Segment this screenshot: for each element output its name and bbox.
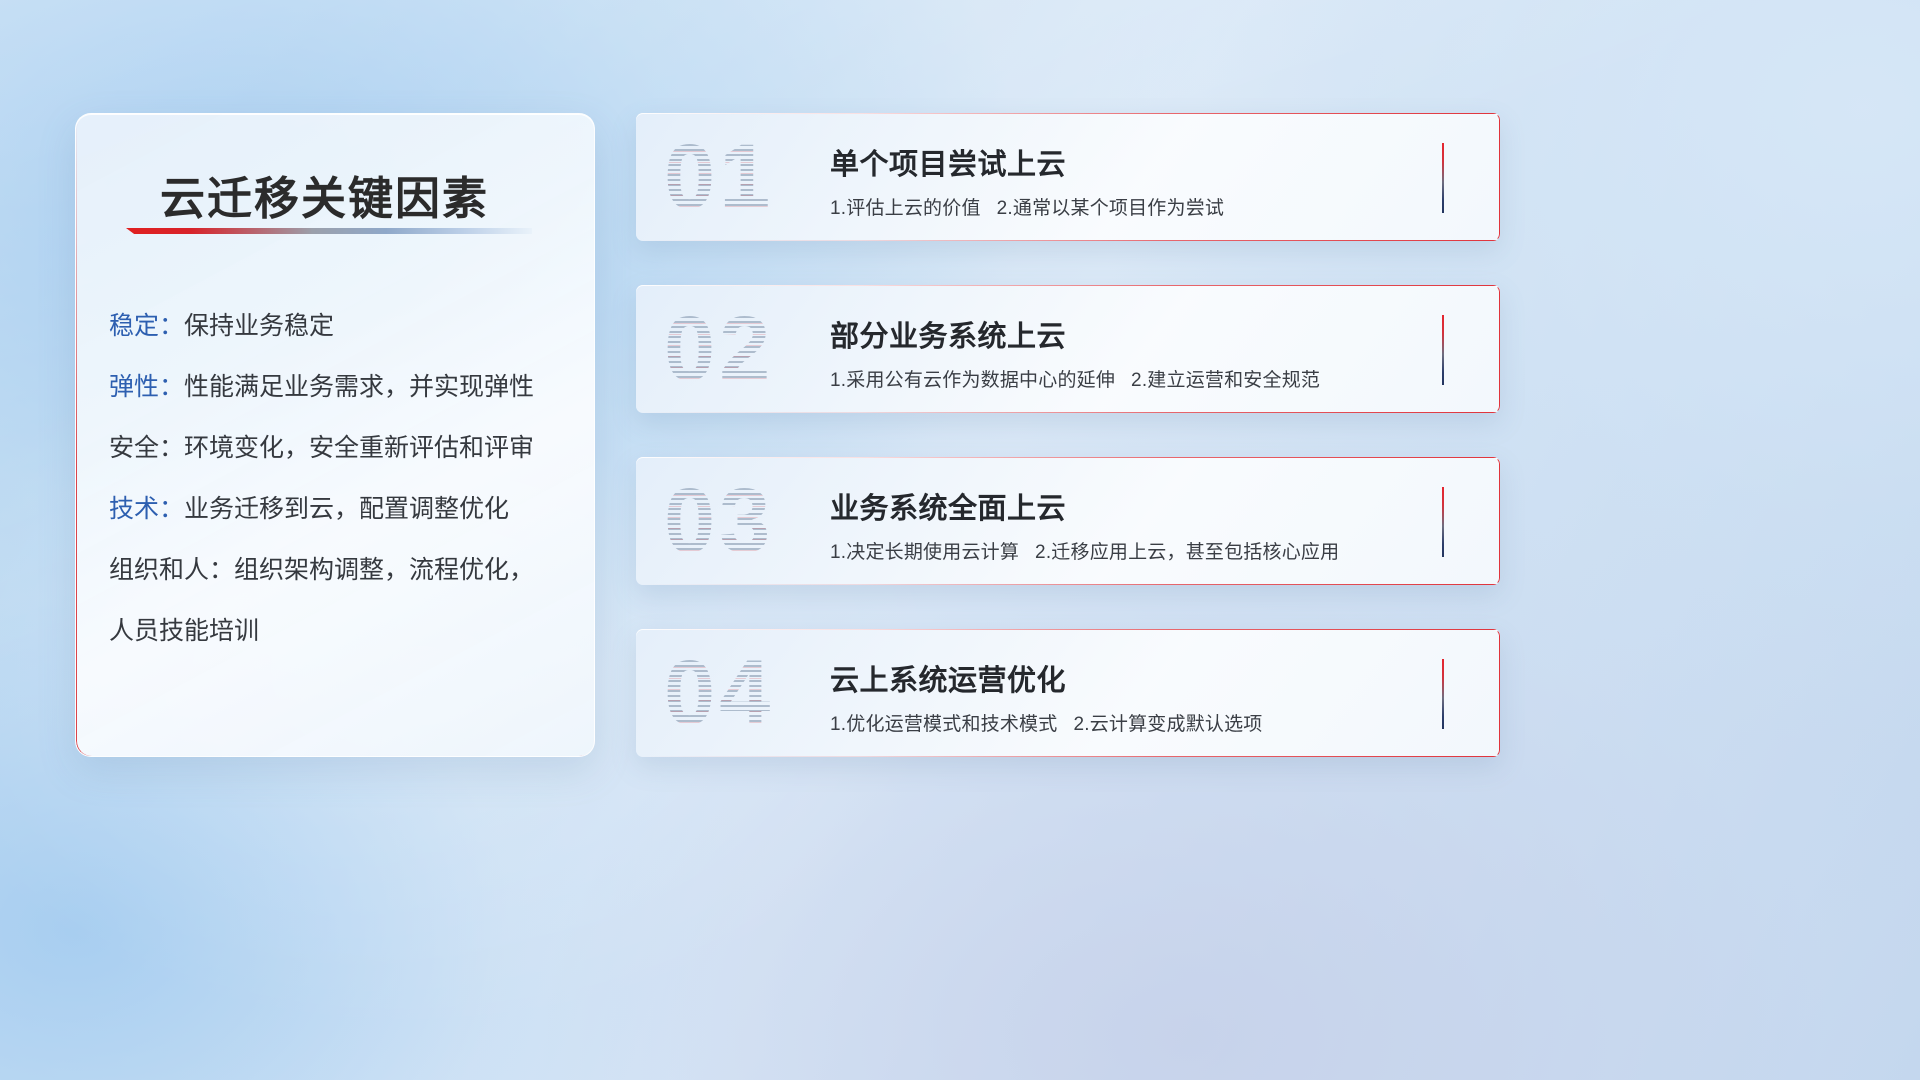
card-point: 1.决定长期使用云计算 [830, 542, 1019, 563]
card-divider [1442, 315, 1444, 385]
card-point: 2.建立运营和安全规范 [1131, 370, 1320, 391]
list-item: 组织和人：组织架构调整，流程优化， [109, 558, 579, 583]
card-point: 2.通常以某个项目作为尝试 [997, 198, 1224, 219]
list-item: 安全：环境变化，安全重新评估和评审 [109, 436, 579, 461]
key-factors-panel: 云迁移关键因素 稳定：保持业务稳定 弹性：性能满足业务需求，并实现弹性 安全：环… [75, 113, 595, 757]
list-item: 弹性：性能满足业务需求，并实现弹性 [109, 375, 579, 400]
card-point: 1.评估上云的价值 [830, 198, 981, 219]
stage-number-overlay: 03 [664, 473, 844, 569]
card-points: 1.优化运营模式和技术模式2.云计算变成默认选项 [830, 709, 1263, 736]
list-item-key: 稳定： [109, 312, 184, 340]
list-item-key: 安全： [109, 434, 184, 462]
stage-number-overlay: 02 [664, 301, 844, 397]
card-points: 1.采用公有云作为数据中心的延伸2.建立运营和安全规范 [830, 365, 1320, 392]
card-divider [1442, 659, 1444, 729]
card-title: 云上系统运营优化 [830, 657, 1066, 699]
stage-card-02[interactable]: 02 02 部分业务系统上云 1.采用公有云作为数据中心的延伸2.建立运营和安全… [636, 285, 1500, 413]
card-points: 1.评估上云的价值2.通常以某个项目作为尝试 [830, 193, 1224, 220]
stage-card-03[interactable]: 03 03 业务系统全面上云 1.决定长期使用云计算2.迁移应用上云，甚至包括核… [636, 457, 1500, 585]
card-point: 2.迁移应用上云，甚至包括核心应用 [1035, 542, 1339, 563]
card-title: 业务系统全面上云 [830, 485, 1066, 527]
list-item-key: 组织和人： [109, 556, 234, 584]
stage-card-04[interactable]: 04 04 云上系统运营优化 1.优化运营模式和技术模式2.云计算变成默认选项 [636, 629, 1500, 757]
list-item: 技术：业务迁移到云，配置调整优化 [109, 497, 579, 522]
page-title: 云迁移关键因素 [160, 162, 489, 227]
list-item-key: 技术： [109, 495, 184, 523]
card-point: 1.优化运营模式和技术模式 [830, 714, 1057, 735]
key-factors-list: 稳定：保持业务稳定 弹性：性能满足业务需求，并实现弹性 安全：环境变化，安全重新… [109, 314, 579, 680]
list-item-text: 人员技能培训 [109, 617, 259, 645]
card-title: 部分业务系统上云 [830, 313, 1066, 355]
stage-number-overlay: 04 [664, 645, 844, 741]
list-item-text: 性能满足业务需求，并实现弹性 [184, 373, 534, 401]
list-item-text: 业务迁移到云，配置调整优化 [184, 495, 509, 523]
list-item: 稳定：保持业务稳定 [109, 314, 579, 339]
card-point: 2.云计算变成默认选项 [1073, 714, 1262, 735]
card-point: 1.采用公有云作为数据中心的延伸 [830, 370, 1115, 391]
card-divider [1442, 143, 1444, 213]
stage-number-overlay: 01 [664, 129, 844, 225]
card-points: 1.决定长期使用云计算2.迁移应用上云，甚至包括核心应用 [830, 537, 1339, 564]
card-divider [1442, 487, 1444, 557]
list-item-text: 环境变化，安全重新评估和评审 [184, 434, 534, 462]
card-title: 单个项目尝试上云 [830, 141, 1066, 183]
list-item-text: 保持业务稳定 [184, 312, 334, 340]
list-item-continuation: 人员技能培训 [109, 619, 579, 644]
list-item-text: 组织架构调整，流程优化， [234, 556, 534, 584]
list-item-key: 弹性： [109, 373, 184, 401]
stage-card-01[interactable]: 01 01 单个项目尝试上云 1.评估上云的价值2.通常以某个项目作为尝试 [636, 113, 1500, 241]
title-underline-rule [126, 228, 532, 234]
